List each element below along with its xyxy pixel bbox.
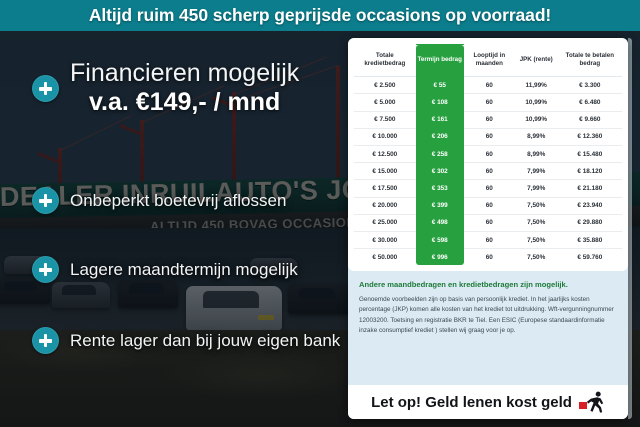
disclaimer-title: Andere maandbedragen en kredietbedragen …: [359, 280, 617, 290]
rates-table: Totale kredietbedrag Termijn bedrag Loop…: [354, 44, 622, 265]
plus-icon: [32, 327, 59, 354]
benefit-item-aflossen: Onbeperkt boetevrij aflossen: [32, 187, 286, 214]
table-row: € 50.000€ 996607,50%€ 59.760: [354, 249, 622, 266]
credit-warning-bar: Let op! Geld lenen kost geld: [348, 385, 628, 419]
table-row: € 10.000€ 206608,99%€ 12.360: [354, 128, 622, 145]
table-row: € 5.000€ 1086010,99%€ 6.480: [354, 94, 622, 111]
plus-icon: [32, 256, 59, 283]
cell-termijnbedrag: € 353: [416, 180, 464, 197]
lead-offer: Financieren mogelijk v.a. €149,- / mnd: [70, 60, 299, 117]
walking-man-glyph: [586, 391, 605, 413]
cell-kredietbedrag: € 7.500: [354, 111, 416, 128]
cell-jkp: 7,50%: [515, 197, 558, 214]
cell-looptijd: 60: [464, 77, 515, 94]
cell-kredietbedrag: € 2.500: [354, 77, 416, 94]
panel-right-edge: [628, 38, 632, 419]
cell-jkp: 7,99%: [515, 163, 558, 180]
cell-looptijd: 60: [464, 249, 515, 266]
plus-icon: [32, 75, 59, 102]
cell-termijnbedrag: € 996: [416, 249, 464, 266]
column-header-jkp: JPK (rente): [515, 45, 558, 77]
credit-warning-text: Let op! Geld lenen kost geld: [371, 394, 572, 411]
cell-looptijd: 60: [464, 145, 515, 162]
cell-totaalbedrag: € 23.940: [558, 197, 622, 214]
column-header-termijnbedrag: Termijn bedrag: [416, 45, 464, 77]
table-row: € 2.500€ 556011,99%€ 3.300: [354, 77, 622, 94]
rates-table-card: Totale kredietbedrag Termijn bedrag Loop…: [348, 38, 628, 271]
cell-termijnbedrag: € 258: [416, 145, 464, 162]
cell-jkp: 10,99%: [515, 94, 558, 111]
plus-icon: [32, 187, 59, 214]
cell-totaalbedrag: € 6.480: [558, 94, 622, 111]
cell-totaalbedrag: € 3.300: [558, 77, 622, 94]
cell-kredietbedrag: € 15.000: [354, 163, 416, 180]
table-row: € 20.000€ 399607,50%€ 23.940: [354, 197, 622, 214]
cell-jkp: 11,99%: [515, 77, 558, 94]
table-row: € 12.500€ 258608,99%€ 15.480: [354, 145, 622, 162]
table-row: € 25.000€ 498607,50%€ 29.880: [354, 214, 622, 231]
cell-totaalbedrag: € 15.480: [558, 145, 622, 162]
cell-looptijd: 60: [464, 94, 515, 111]
cell-jkp: 7,99%: [515, 180, 558, 197]
cell-looptijd: 60: [464, 111, 515, 128]
cell-looptijd: 60: [464, 214, 515, 231]
column-header-kredietbedrag: Totale kredietbedrag: [354, 45, 416, 77]
cell-jkp: 7,50%: [515, 214, 558, 231]
table-header-row: Totale kredietbedrag Termijn bedrag Loop…: [354, 45, 622, 77]
benefit-item-financiering: Financieren mogelijk v.a. €149,- / mnd: [32, 60, 299, 117]
disclaimer-block: Andere maandbedragen en kredietbedragen …: [348, 271, 628, 385]
cell-kredietbedrag: € 20.000: [354, 197, 416, 214]
cell-jkp: 7,50%: [515, 249, 558, 266]
lead-offer-line2: v.a. €149,- / mnd: [70, 88, 299, 117]
finance-info-panel: Totale kredietbedrag Termijn bedrag Loop…: [348, 38, 628, 419]
cell-termijnbedrag: € 302: [416, 163, 464, 180]
cell-termijnbedrag: € 55: [416, 77, 464, 94]
cell-looptijd: 60: [464, 128, 515, 145]
cell-kredietbedrag: € 12.500: [354, 145, 416, 162]
table-row: € 7.500€ 1616010,99%€ 9.660: [354, 111, 622, 128]
cell-jkp: 7,50%: [515, 231, 558, 248]
cell-kredietbedrag: € 5.000: [354, 94, 416, 111]
cell-totaalbedrag: € 9.660: [558, 111, 622, 128]
disclaimer-body: Genoemde voorbeelden zijn op basis van p…: [359, 295, 617, 336]
cell-termijnbedrag: € 498: [416, 214, 464, 231]
benefit-item-maandtermijn: Lagere maandtermijn mogelijk: [32, 256, 298, 283]
table-row: € 30.000€ 598607,50%€ 35.880: [354, 231, 622, 248]
cell-jkp: 10,99%: [515, 111, 558, 128]
cell-termijnbedrag: € 399: [416, 197, 464, 214]
cell-looptijd: 60: [464, 197, 515, 214]
cell-kredietbedrag: € 10.000: [354, 128, 416, 145]
cell-totaalbedrag: € 59.760: [558, 249, 622, 266]
benefits-list: Financieren mogelijk v.a. €149,- / mnd O…: [0, 31, 348, 427]
cell-termijnbedrag: € 161: [416, 111, 464, 128]
cell-looptijd: 60: [464, 180, 515, 197]
benefit-item-rente: Rente lager dan bij jouw eigen bank: [32, 327, 340, 354]
cell-jkp: 8,99%: [515, 128, 558, 145]
column-header-looptijd: Looptijd in maanden: [464, 45, 515, 77]
cell-totaalbedrag: € 35.880: [558, 231, 622, 248]
cell-kredietbedrag: € 25.000: [354, 214, 416, 231]
benefit-label: Lagere maandtermijn mogelijk: [70, 260, 298, 280]
cell-totaalbedrag: € 12.360: [558, 128, 622, 145]
lead-offer-line1: Financieren mogelijk: [70, 60, 299, 86]
rates-table-body: € 2.500€ 556011,99%€ 3.300€ 5.000€ 10860…: [354, 77, 622, 266]
table-row: € 15.000€ 302607,99%€ 18.120: [354, 163, 622, 180]
cell-kredietbedrag: € 50.000: [354, 249, 416, 266]
cell-totaalbedrag: € 29.880: [558, 214, 622, 231]
cell-termijnbedrag: € 206: [416, 128, 464, 145]
cell-termijnbedrag: € 108: [416, 94, 464, 111]
table-row: € 17.500€ 353607,99%€ 21.180: [354, 180, 622, 197]
cell-kredietbedrag: € 30.000: [354, 231, 416, 248]
cell-looptijd: 60: [464, 163, 515, 180]
benefit-label: Onbeperkt boetevrij aflossen: [70, 191, 286, 211]
cell-totaalbedrag: € 18.120: [558, 163, 622, 180]
cell-jkp: 8,99%: [515, 145, 558, 162]
cell-looptijd: 60: [464, 231, 515, 248]
column-header-totaal: Totale te betalen bedrag: [558, 45, 622, 77]
headline-text: Altijd ruim 450 scherp geprijsde occasio…: [89, 5, 551, 26]
finance-promo-banner: DEALER INRUILAUTO'S JOHAN MEURE ALTIJD 4…: [0, 0, 640, 427]
walking-man-warning-icon: [579, 391, 605, 413]
cell-totaalbedrag: € 21.180: [558, 180, 622, 197]
cell-termijnbedrag: € 598: [416, 231, 464, 248]
benefit-label: Rente lager dan bij jouw eigen bank: [70, 331, 340, 351]
headline-bar: Altijd ruim 450 scherp geprijsde occasio…: [0, 0, 640, 31]
cell-kredietbedrag: € 17.500: [354, 180, 416, 197]
